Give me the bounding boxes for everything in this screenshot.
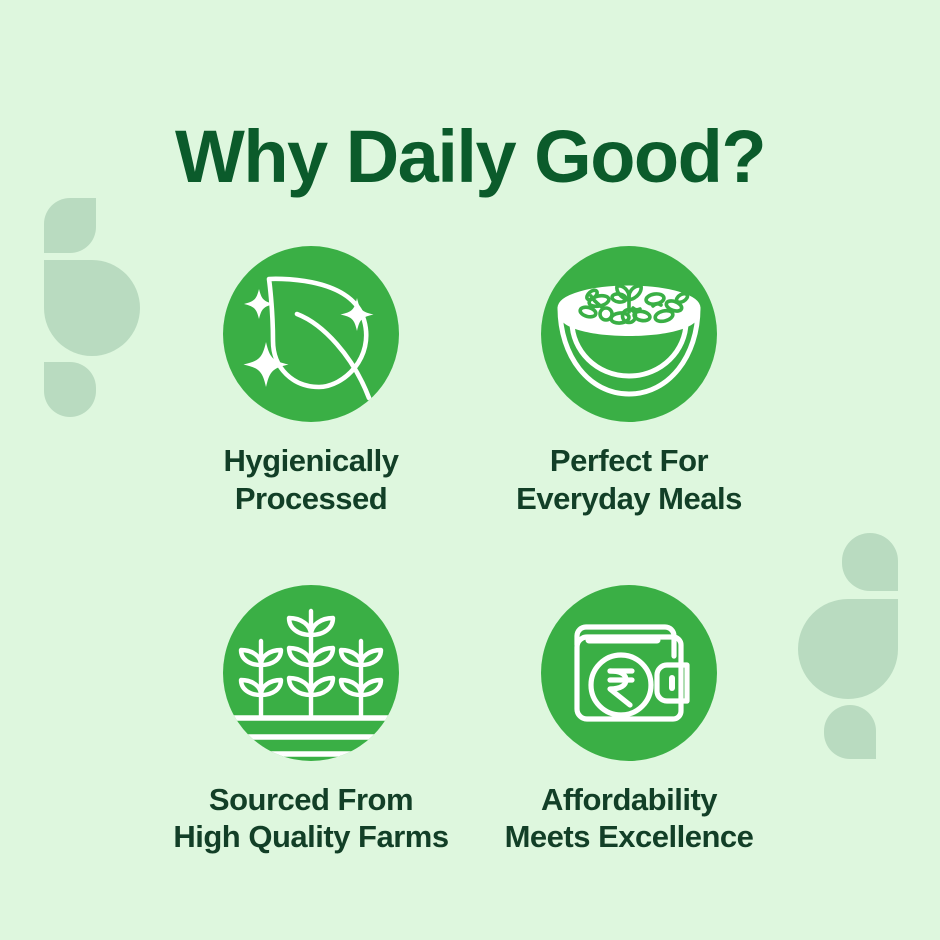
feature-perfect-for-everyday-meals[interactable]: Perfect For Everyday Meals <box>470 246 788 518</box>
feature-affordability-meets-excellence[interactable]: Affordability Meets Excellence <box>470 585 788 857</box>
sparkling-leaf-icon <box>223 246 399 422</box>
wheat-field-icon <box>223 585 399 761</box>
promo-canvas: Why Daily Good? <box>0 0 940 940</box>
feature-label: Sourced From High Quality Farms <box>173 781 448 857</box>
feature-grid: Hygienically Processed <box>0 246 940 856</box>
feature-label: Perfect For Everyday Meals <box>516 442 742 518</box>
feature-icon-badge <box>223 246 399 422</box>
feature-sourced-from-high-quality-farms[interactable]: Sourced From High Quality Farms <box>152 585 470 857</box>
wallet-rupee-icon <box>541 585 717 761</box>
feature-label: Affordability Meets Excellence <box>505 781 754 857</box>
soup-bowl-icon <box>541 246 717 422</box>
feature-icon-badge <box>223 585 399 761</box>
feature-label: Hygienically Processed <box>224 442 399 518</box>
feature-row: Hygienically Processed <box>0 246 940 518</box>
feature-row: Sourced From High Quality Farms <box>0 585 940 857</box>
page-title: Why Daily Good? <box>0 120 940 194</box>
ground-lines-icon <box>225 718 397 754</box>
feature-icon-badge <box>541 246 717 422</box>
feature-icon-badge <box>541 585 717 761</box>
decorative-leaf-icon <box>44 198 96 253</box>
feature-hygienically-processed[interactable]: Hygienically Processed <box>152 246 470 518</box>
